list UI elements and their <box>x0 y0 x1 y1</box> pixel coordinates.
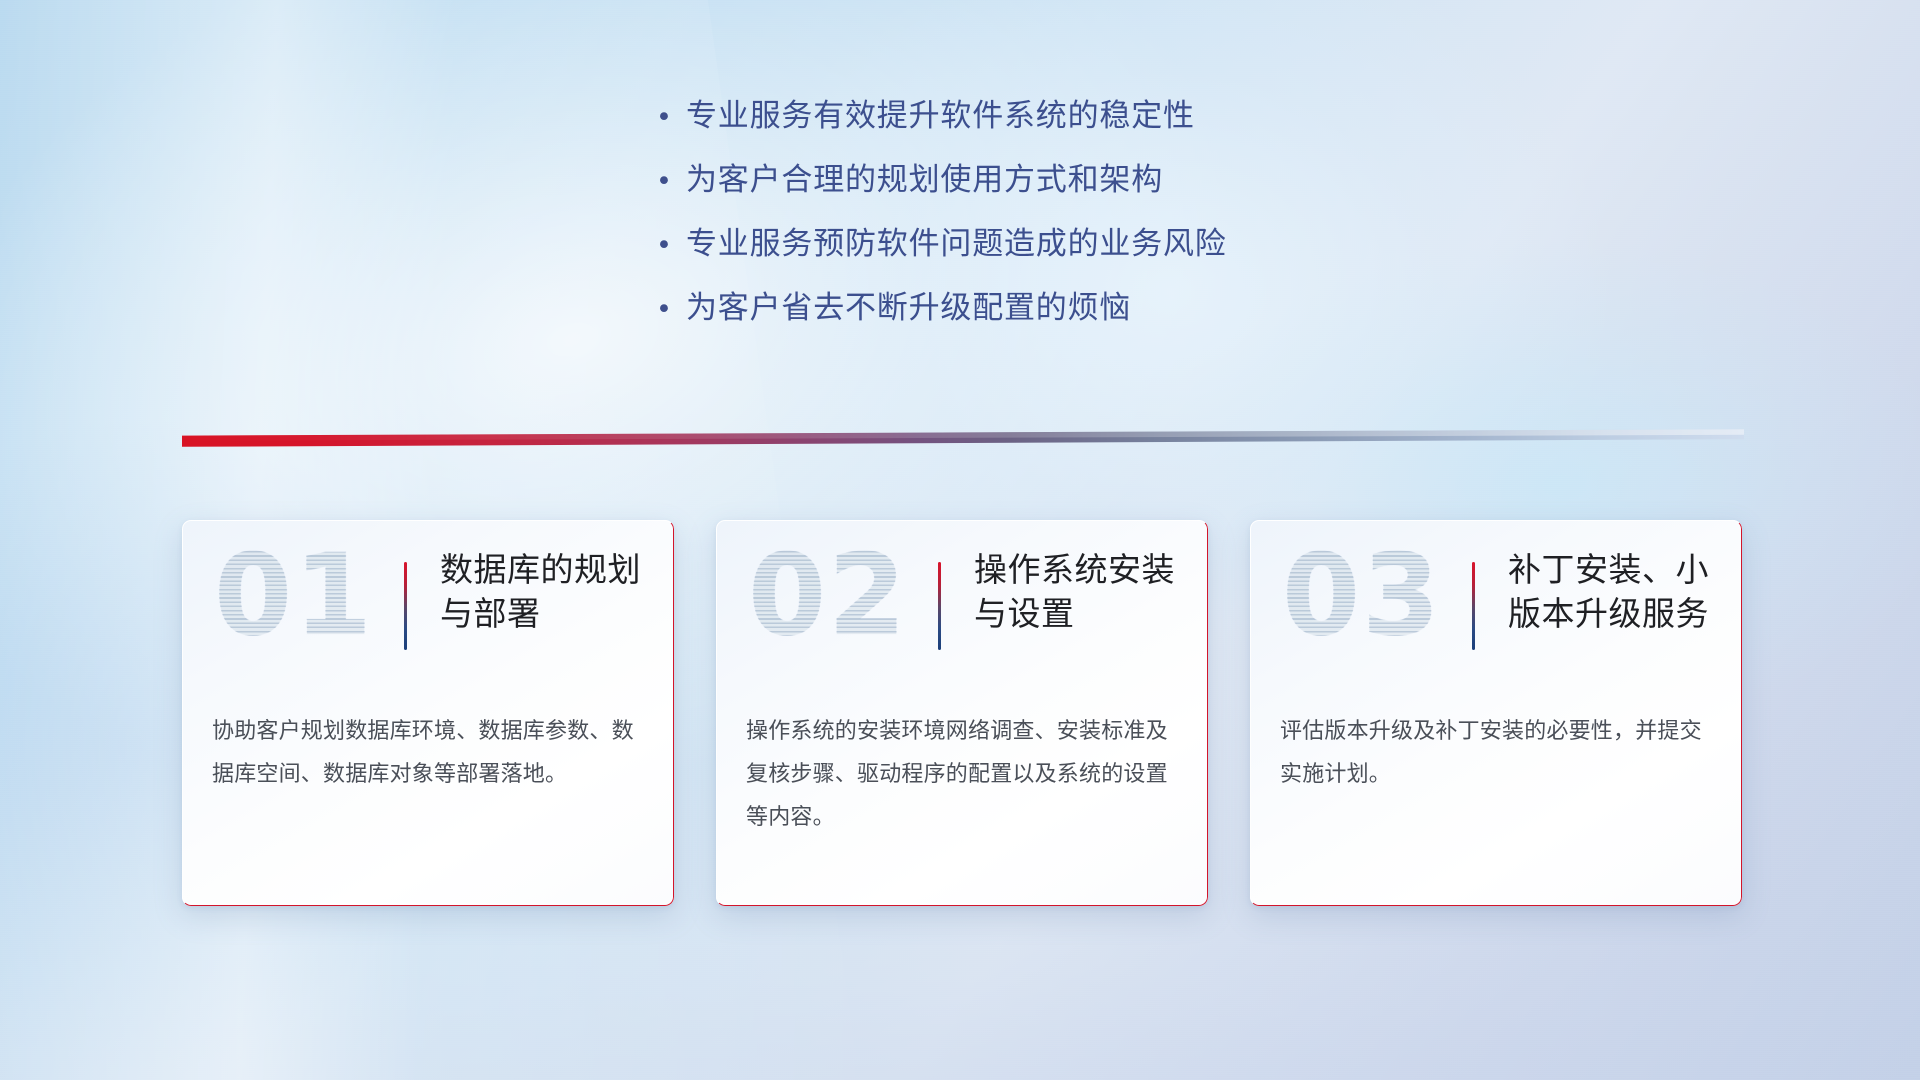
card-number: 02 <box>738 526 918 666</box>
list-item: • 专业服务有效提升软件系统的稳定性 <box>652 96 1472 137</box>
service-card-02[interactable]: 02 02 操作系统安装与设置 操作系统的安装环境网络调查、安装标准及复核步骤、… <box>716 520 1208 906</box>
service-card-row: 01 01 数据库的规划与部署 协助客户规划数据库环境、数据库参数、数据库空间、… <box>182 520 1742 910</box>
bullet-text: 专业服务有效提升软件系统的稳定性 <box>686 96 1195 137</box>
bullet-dot-icon: • <box>652 232 686 259</box>
section-divider <box>182 428 1744 448</box>
card-title: 数据库的规划与部署 <box>440 548 655 636</box>
card-header: 01 01 数据库的规划与部署 <box>182 520 674 690</box>
benefits-bullet-list: • 专业服务有效提升软件系统的稳定性 • 为客户合理的规划使用方式和架构 • 专… <box>652 96 1472 352</box>
bullet-dot-icon: • <box>652 104 686 131</box>
card-body-text: 操作系统的安装环境网络调查、安装标准及复核步骤、驱动程序的配置以及系统的设置等内… <box>746 710 1178 839</box>
bullet-text: 为客户合理的规划使用方式和架构 <box>686 160 1163 201</box>
card-number: 01 <box>204 526 384 666</box>
bullet-text: 为客户省去不断升级配置的烦恼 <box>686 288 1131 329</box>
bullet-dot-icon: • <box>652 168 686 195</box>
card-body-text: 评估版本升级及补丁安装的必要性，并提交实施计划。 <box>1280 710 1712 796</box>
bullet-dot-icon: • <box>652 296 686 323</box>
service-card-01[interactable]: 01 01 数据库的规划与部署 协助客户规划数据库环境、数据库参数、数据库空间、… <box>182 520 674 906</box>
list-item: • 为客户省去不断升级配置的烦恼 <box>652 288 1472 329</box>
card-body-text: 协助客户规划数据库环境、数据库参数、数据库空间、数据库对象等部署落地。 <box>212 710 644 796</box>
list-item: • 为客户合理的规划使用方式和架构 <box>652 160 1472 201</box>
service-card-03[interactable]: 03 03 补丁安装、小版本升级服务 评估版本升级及补丁安装的必要性，并提交实施… <box>1250 520 1742 906</box>
card-accent-bar <box>404 562 407 650</box>
list-item: • 专业服务预防软件问题造成的业务风险 <box>652 224 1472 265</box>
bullet-text: 专业服务预防软件问题造成的业务风险 <box>686 224 1227 265</box>
card-title: 补丁安装、小版本升级服务 <box>1508 548 1723 636</box>
card-title: 操作系统安装与设置 <box>974 548 1189 636</box>
card-accent-bar <box>1472 562 1475 650</box>
card-header: 02 02 操作系统安装与设置 <box>716 520 1208 690</box>
card-header: 03 03 补丁安装、小版本升级服务 <box>1250 520 1742 690</box>
card-number: 03 <box>1272 526 1452 666</box>
card-accent-bar <box>938 562 941 650</box>
